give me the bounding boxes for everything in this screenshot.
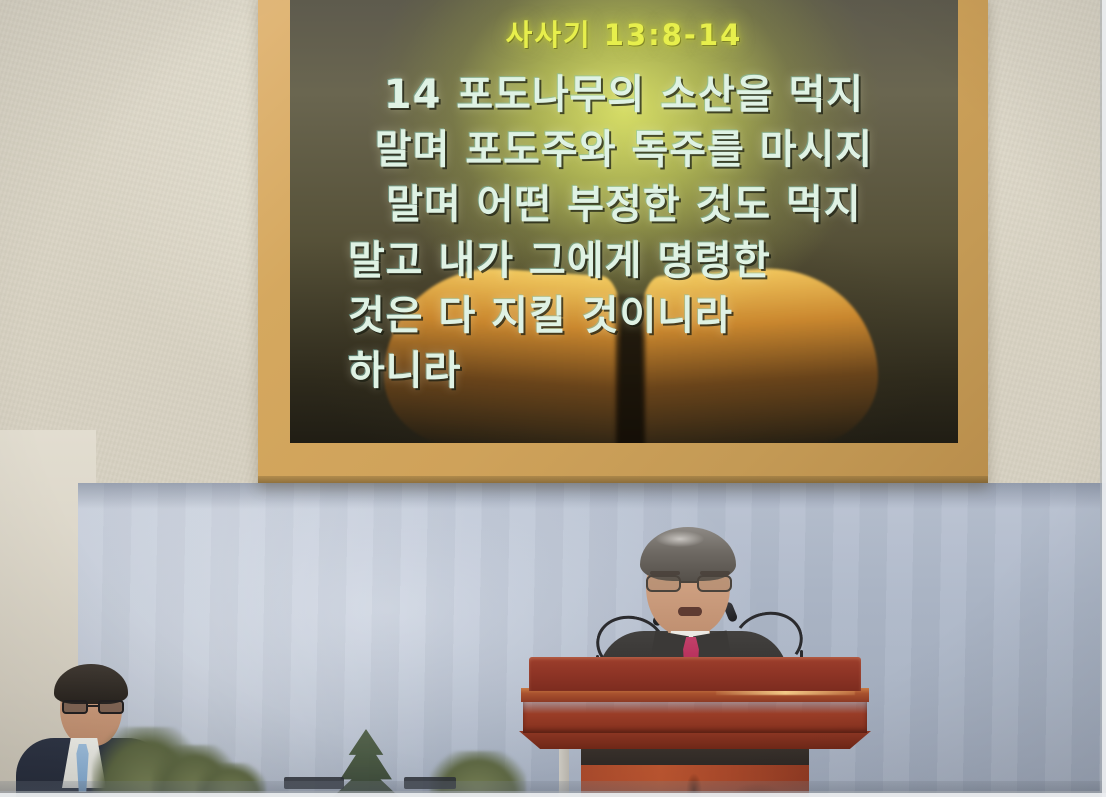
projection-screen: 사사기 13:8-14 14 포도나무의 소산을 먹지 말며 포도주와 독주를 … bbox=[290, 0, 958, 443]
verse-line-5: 것은 다 지킬 것이니라 bbox=[290, 289, 958, 344]
verse-line-6: 하니라 bbox=[290, 344, 958, 399]
photo-scene: 사사기 13:8-14 14 포도나무의 소산을 먹지 말며 포도주와 독주를 … bbox=[0, 0, 1106, 797]
pulpit-mid-panel bbox=[523, 701, 867, 733]
stage-floor-edge bbox=[0, 781, 1106, 797]
verse-line-2: 말며 포도주와 독주를 마시지 bbox=[290, 123, 958, 178]
glasses-lens-right bbox=[697, 575, 732, 592]
glasses-lens-right bbox=[98, 700, 124, 714]
glasses-icon bbox=[646, 575, 732, 592]
verse-line-3: 말며 어떤 부정한 것도 먹지 bbox=[290, 178, 958, 233]
slide-verse-body: 14 포도나무의 소산을 먹지 말며 포도주와 독주를 마시지 말며 어떤 부정… bbox=[290, 68, 958, 399]
wooden-pulpit bbox=[519, 657, 871, 797]
projection-screen-frame: 사사기 13:8-14 14 포도나무의 소산을 먹지 말며 포도주와 독주를 … bbox=[258, 0, 988, 483]
seated-man-hair bbox=[54, 664, 128, 704]
glasses-bridge bbox=[88, 705, 98, 707]
glasses-lens-left bbox=[62, 700, 88, 714]
verse-line-4: 말고 내가 그에게 명령한 bbox=[290, 234, 958, 289]
backdrop-top-shadow bbox=[78, 483, 1106, 509]
glasses-bridge bbox=[681, 581, 697, 583]
preacher-hair-sheen bbox=[656, 531, 704, 547]
pulpit-top-surface bbox=[529, 657, 861, 691]
glasses-icon bbox=[62, 700, 124, 714]
verse-line-1: 14 포도나무의 소산을 먹지 bbox=[290, 68, 958, 123]
slide-scripture-reference: 사사기 13:8-14 bbox=[506, 12, 743, 54]
pulpit-bevel bbox=[519, 731, 871, 749]
preacher-mouth bbox=[678, 607, 702, 616]
preacher-figure bbox=[598, 527, 788, 667]
glasses-lens-left bbox=[646, 575, 681, 592]
slide-text-block: 사사기 13:8-14 14 포도나무의 소산을 먹지 말며 포도주와 독주를 … bbox=[290, 0, 958, 443]
